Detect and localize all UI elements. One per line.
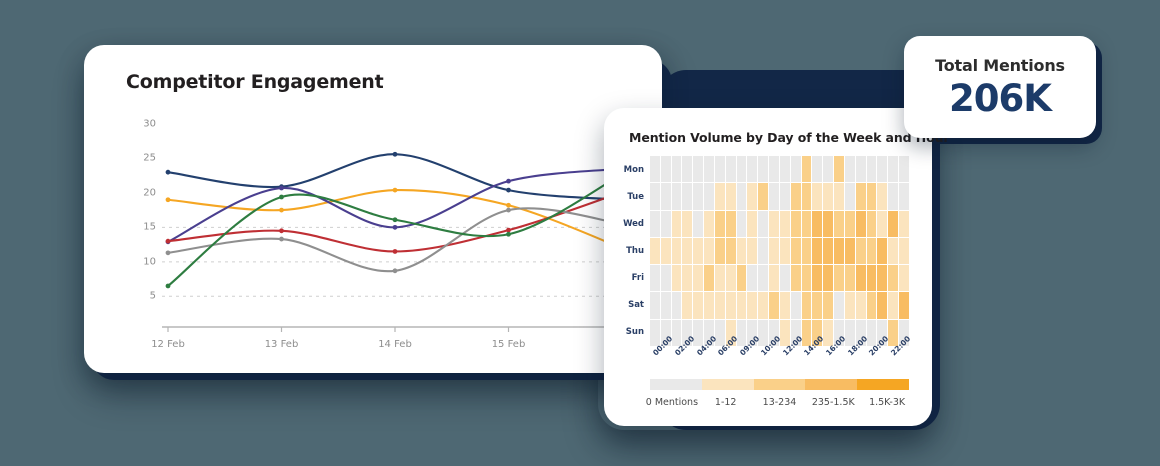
data-point-marker: [279, 186, 284, 191]
heatmap-cell[interactable]: [899, 211, 909, 237]
heatmap-cell[interactable]: [661, 156, 671, 182]
heatmap-cell[interactable]: [823, 238, 833, 264]
heatmap-legend-labels: 0 Mentions1-1213-234235-1.5K1.5K-3K: [645, 397, 914, 411]
data-point-marker: [393, 152, 398, 157]
data-point-marker: [279, 237, 284, 242]
heatmap-cell[interactable]: [650, 265, 660, 291]
heatmap-cell[interactable]: [867, 292, 877, 318]
heatmap-cell[interactable]: [888, 183, 898, 209]
heatmap-cell[interactable]: [802, 211, 812, 237]
heatmap-cell[interactable]: [823, 292, 833, 318]
heatmap-cell[interactable]: [791, 265, 801, 291]
heatmap-day-label: Sat: [610, 300, 644, 310]
y-axis-tick-label: 5: [126, 291, 156, 302]
heatmap-cell[interactable]: [877, 265, 887, 291]
heatmap-legend-bar: [650, 379, 909, 390]
screenshot-stage: Competitor Engagement 5101520253012 Feb1…: [0, 0, 1160, 466]
heatmap-cell[interactable]: [650, 292, 660, 318]
line-chart-title: Competitor Engagement: [126, 71, 384, 93]
heatmap-cell[interactable]: [758, 156, 768, 182]
heatmap-cell[interactable]: [877, 211, 887, 237]
data-point-marker: [166, 284, 171, 289]
heatmap-cell[interactable]: [747, 265, 757, 291]
heatmap-grid-wrapper: [650, 156, 909, 346]
heatmap-cell[interactable]: [672, 238, 682, 264]
heatmap-cell[interactable]: [791, 292, 801, 318]
data-point-marker: [506, 228, 511, 233]
heatmap-cell[interactable]: [812, 183, 822, 209]
heatmap-cell[interactable]: [758, 183, 768, 209]
heatmap-day-label: Thu: [610, 246, 644, 256]
heatmap-cell[interactable]: [682, 156, 692, 182]
heatmap-cell[interactable]: [726, 238, 736, 264]
heatmap-cell[interactable]: [672, 211, 682, 237]
legend-swatch: [650, 379, 702, 390]
heatmap-cell[interactable]: [867, 211, 877, 237]
heatmap-cell[interactable]: [661, 238, 671, 264]
data-point-marker: [393, 249, 398, 254]
heatmap-cell[interactable]: [769, 238, 779, 264]
heatmap-cell[interactable]: [650, 238, 660, 264]
heatmap-cell[interactable]: [845, 156, 855, 182]
kpi-label: Total Mentions: [904, 56, 1096, 75]
data-point-marker: [166, 250, 171, 255]
heatmap-cell[interactable]: [726, 156, 736, 182]
heatmap-title: Mention Volume by Day of the Week and Ho…: [629, 130, 950, 145]
heatmap-cell[interactable]: [780, 292, 790, 318]
data-point-marker: [506, 232, 511, 237]
data-point-marker: [279, 195, 284, 200]
legend-swatch: [805, 379, 857, 390]
y-axis-tick-label: 10: [126, 256, 156, 267]
heatmap-cell[interactable]: [856, 292, 866, 318]
heatmap-cell[interactable]: [802, 156, 812, 182]
data-point-marker: [393, 268, 398, 273]
heatmap-cell[interactable]: [899, 292, 909, 318]
data-point-marker: [166, 170, 171, 175]
heatmap-cell[interactable]: [780, 156, 790, 182]
legend-label: 235-1.5K: [806, 397, 860, 411]
heatmap-cell[interactable]: [693, 183, 703, 209]
series-line: [168, 154, 622, 200]
heatmap-day-label: Tue: [610, 192, 644, 202]
heatmap-cell[interactable]: [726, 265, 736, 291]
heatmap-cell[interactable]: [672, 156, 682, 182]
line-chart-svg: [110, 107, 640, 357]
heatmap-cell[interactable]: [704, 211, 714, 237]
heatmap-cell[interactable]: [672, 292, 682, 318]
heatmap-cell[interactable]: [737, 292, 747, 318]
heatmap-cell[interactable]: [726, 292, 736, 318]
heatmap-cell[interactable]: [812, 292, 822, 318]
heatmap-cell[interactable]: [888, 211, 898, 237]
y-axis-tick-label: 25: [126, 153, 156, 164]
heatmap-cell[interactable]: [715, 265, 725, 291]
heatmap-day-label: Sun: [610, 327, 644, 337]
heatmap-cell[interactable]: [780, 238, 790, 264]
heatmap-cell[interactable]: [877, 238, 887, 264]
heatmap-cell[interactable]: [823, 156, 833, 182]
total-mentions-card: Total Mentions 206K: [904, 36, 1096, 138]
heatmap-cell[interactable]: [758, 265, 768, 291]
competitor-engagement-card: Competitor Engagement 5101520253012 Feb1…: [84, 45, 662, 373]
heatmap-cell[interactable]: [737, 156, 747, 182]
heatmap-cell[interactable]: [704, 238, 714, 264]
heatmap-cell[interactable]: [726, 211, 736, 237]
heatmap-cell[interactable]: [867, 238, 877, 264]
heatmap-cell[interactable]: [769, 265, 779, 291]
heatmap-cell[interactable]: [823, 211, 833, 237]
heatmap-cell[interactable]: [867, 156, 877, 182]
heatmap-cell[interactable]: [650, 156, 660, 182]
data-point-marker: [166, 197, 171, 202]
heatmap-cell[interactable]: [704, 183, 714, 209]
heatmap-cell[interactable]: [856, 238, 866, 264]
heatmap-cell[interactable]: [737, 211, 747, 237]
heatmap-cell[interactable]: [834, 292, 844, 318]
heatmap-cell[interactable]: [672, 265, 682, 291]
heatmap-cell[interactable]: [682, 238, 692, 264]
x-axis-tick-label: 14 Feb: [378, 339, 412, 350]
heatmap-cell[interactable]: [899, 238, 909, 264]
legend-label: 0 Mentions: [645, 397, 699, 411]
heatmap-day-label: Wed: [610, 219, 644, 229]
heatmap-cell[interactable]: [834, 265, 844, 291]
heatmap-cell[interactable]: [899, 156, 909, 182]
legend-swatch: [857, 379, 909, 390]
heatmap-day-label: Fri: [610, 273, 644, 283]
heatmap-cell[interactable]: [747, 238, 757, 264]
line-chart-plot: 5101520253012 Feb13 Feb14 Feb15 Feb16 Fe…: [110, 107, 640, 357]
heatmap-cell[interactable]: [650, 183, 660, 209]
heatmap-cell[interactable]: [791, 211, 801, 237]
heatmap-cell[interactable]: [877, 156, 887, 182]
heatmap-cell[interactable]: [661, 292, 671, 318]
data-point-marker: [506, 188, 511, 193]
data-point-marker: [506, 179, 511, 184]
legend-swatch: [702, 379, 754, 390]
legend-label: 13-234: [753, 397, 807, 411]
heatmap-cell[interactable]: [856, 156, 866, 182]
heatmap-cell[interactable]: [845, 211, 855, 237]
data-point-marker: [279, 228, 284, 233]
heatmap-cell[interactable]: [769, 292, 779, 318]
heatmap-cell[interactable]: [758, 238, 768, 264]
data-point-marker: [506, 208, 511, 213]
heatmap-cell[interactable]: [715, 183, 725, 209]
data-point-marker: [279, 208, 284, 213]
heatmap-cell[interactable]: [802, 292, 812, 318]
heatmap-cell[interactable]: [747, 183, 757, 209]
heatmap-cell[interactable]: [682, 211, 692, 237]
heatmap-cell[interactable]: [888, 292, 898, 318]
heatmap-cell[interactable]: [845, 238, 855, 264]
heatmap-cell[interactable]: [856, 183, 866, 209]
heatmap-cell[interactable]: [693, 265, 703, 291]
heatmap-cell[interactable]: [737, 265, 747, 291]
heatmap-cell[interactable]: [845, 183, 855, 209]
line-series: [166, 152, 625, 202]
heatmap-cell[interactable]: [888, 238, 898, 264]
heatmap-cell[interactable]: [834, 156, 844, 182]
heatmap-cell[interactable]: [899, 183, 909, 209]
heatmap-cell[interactable]: [661, 211, 671, 237]
heatmap-cell[interactable]: [682, 292, 692, 318]
heatmap-cell[interactable]: [845, 292, 855, 318]
heatmap-cell[interactable]: [661, 265, 671, 291]
heatmap-cell[interactable]: [693, 292, 703, 318]
heatmap-cell[interactable]: [737, 238, 747, 264]
heatmap-cell[interactable]: [845, 265, 855, 291]
heatmap-cell[interactable]: [791, 183, 801, 209]
heatmap-cell[interactable]: [812, 211, 822, 237]
heatmap-cell[interactable]: [769, 211, 779, 237]
heatmap-cell[interactable]: [769, 183, 779, 209]
heatmap-cell[interactable]: [780, 211, 790, 237]
x-axis-tick-label: 15 Feb: [492, 339, 526, 350]
heatmap-cell[interactable]: [682, 265, 692, 291]
heatmap-cell[interactable]: [704, 156, 714, 182]
heatmap-cell[interactable]: [704, 292, 714, 318]
heatmap-cell[interactable]: [899, 265, 909, 291]
heatmap-cell[interactable]: [823, 183, 833, 209]
heatmap-cell[interactable]: [747, 156, 757, 182]
heatmap-cell[interactable]: [693, 156, 703, 182]
heatmap-cell[interactable]: [812, 156, 822, 182]
heatmap-cell[interactable]: [715, 156, 725, 182]
heatmap-grid[interactable]: [650, 156, 909, 346]
x-axis-tick-label: 12 Feb: [151, 339, 185, 350]
legend-label: 1-12: [699, 397, 753, 411]
legend-swatch: [754, 379, 806, 390]
heatmap-cell[interactable]: [834, 211, 844, 237]
heatmap-cell[interactable]: [693, 211, 703, 237]
heatmap-cell[interactable]: [715, 292, 725, 318]
heatmap-cell[interactable]: [715, 238, 725, 264]
heatmap-cell[interactable]: [856, 265, 866, 291]
heatmap-cell[interactable]: [704, 265, 714, 291]
heatmap-cell[interactable]: [726, 183, 736, 209]
heatmap-cell[interactable]: [812, 265, 822, 291]
heatmap-cell[interactable]: [758, 292, 768, 318]
heatmap-cell[interactable]: [802, 183, 812, 209]
heatmap-cell[interactable]: [780, 183, 790, 209]
heatmap-cell[interactable]: [780, 265, 790, 291]
y-axis-tick-label: 15: [126, 222, 156, 233]
y-axis-tick-label: 20: [126, 187, 156, 198]
heatmap-cell[interactable]: [791, 238, 801, 264]
heatmap-cell[interactable]: [758, 211, 768, 237]
heatmap-cell[interactable]: [802, 265, 812, 291]
heatmap-cell[interactable]: [650, 211, 660, 237]
heatmap-cell[interactable]: [802, 238, 812, 264]
heatmap-day-label: Mon: [610, 165, 644, 175]
heatmap-cell[interactable]: [877, 292, 887, 318]
data-point-marker: [393, 225, 398, 230]
legend-label: 1.5K-3K: [860, 397, 914, 411]
heatmap-cell[interactable]: [693, 320, 703, 346]
heatmap-cell[interactable]: [867, 183, 877, 209]
series-line: [168, 169, 622, 242]
heatmap-cell[interactable]: [747, 211, 757, 237]
heatmap-cell[interactable]: [812, 238, 822, 264]
data-point-marker: [393, 217, 398, 222]
heatmap-cell[interactable]: [823, 265, 833, 291]
heatmap-cell[interactable]: [747, 292, 757, 318]
heatmap-cell[interactable]: [672, 183, 682, 209]
heatmap-cell[interactable]: [791, 156, 801, 182]
heatmap-cell[interactable]: [834, 238, 844, 264]
y-axis-tick-label: 30: [126, 118, 156, 129]
heatmap-cell[interactable]: [693, 238, 703, 264]
heatmap-cell[interactable]: [737, 183, 747, 209]
heatmap-cell[interactable]: [715, 211, 725, 237]
heatmap-cell[interactable]: [888, 156, 898, 182]
x-axis-tick-label: 13 Feb: [265, 339, 299, 350]
heatmap-cell[interactable]: [661, 183, 671, 209]
heatmap-cell[interactable]: [856, 211, 866, 237]
data-point-marker: [506, 203, 511, 208]
data-point-marker: [166, 239, 171, 244]
heatmap-cell[interactable]: [888, 265, 898, 291]
heatmap-cell[interactable]: [682, 183, 692, 209]
heatmap-cell[interactable]: [877, 183, 887, 209]
heatmap-cell[interactable]: [867, 265, 877, 291]
data-point-marker: [393, 188, 398, 193]
heatmap-cell[interactable]: [769, 156, 779, 182]
kpi-value: 206K: [904, 77, 1096, 120]
heatmap-cell[interactable]: [834, 183, 844, 209]
